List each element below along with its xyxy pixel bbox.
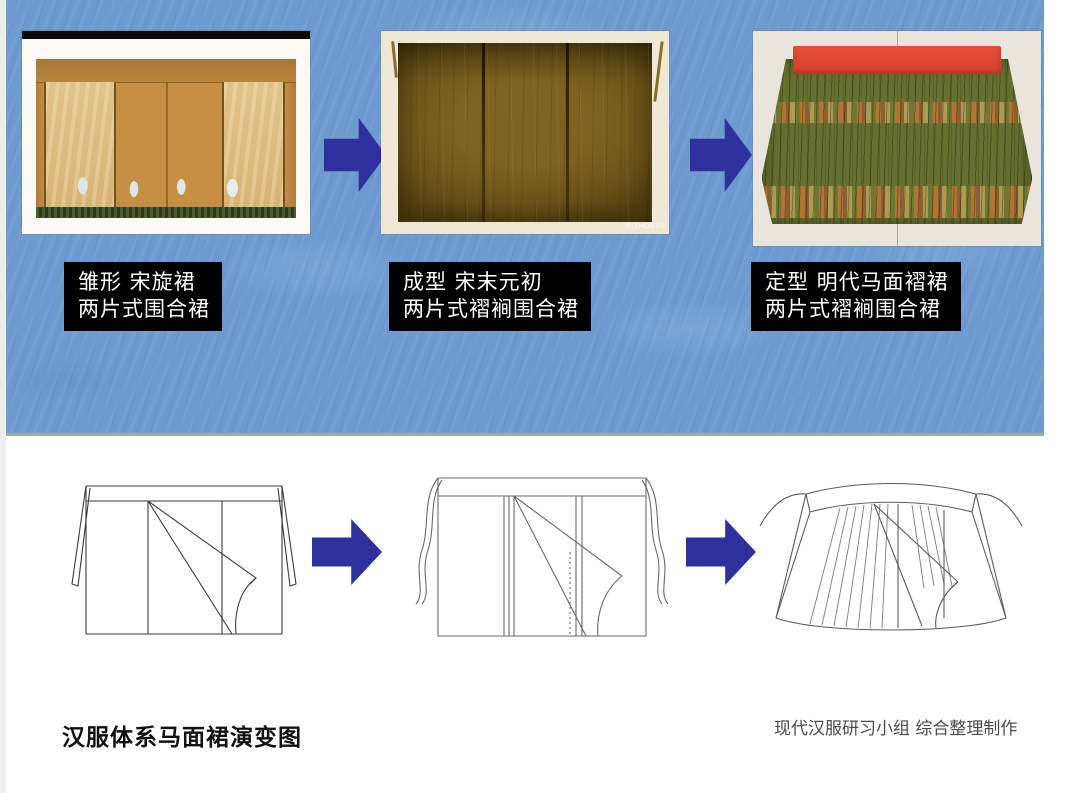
caption-stage-3-line-1: 定型 明代马面褶裙 bbox=[765, 269, 949, 296]
caption-stage-3: 定型 明代马面褶裙 两片式褶裥围合裙 bbox=[751, 262, 961, 331]
photo2-wrinkles bbox=[398, 43, 651, 222]
caption-stage-2: 成型 宋末元初 两片式褶裥围合裙 bbox=[389, 262, 591, 331]
photo2-mat bbox=[381, 31, 669, 234]
photo2-watermark: @汉HONYN bbox=[624, 221, 665, 231]
photo3-skirt-body bbox=[762, 59, 1033, 225]
photo1-cloth bbox=[36, 59, 295, 219]
photo1-waistband bbox=[36, 59, 295, 84]
photo2-seam-left bbox=[482, 43, 485, 222]
photo2-cloth bbox=[398, 43, 651, 222]
photo1-mat bbox=[22, 39, 310, 234]
caption-stage-1: 雏形 宋旋裙 两片式围合裙 bbox=[64, 262, 222, 331]
photo3-brocade-upper bbox=[762, 102, 1033, 124]
photo3-red-waistband bbox=[793, 46, 1000, 74]
photo2-tie-left bbox=[391, 41, 398, 78]
photo-song-yuan-pleated-skirt: @汉HONYN bbox=[381, 31, 669, 234]
photo2-seam-right bbox=[566, 43, 569, 222]
caption-stage-1-line-2: 两片式围合裙 bbox=[78, 296, 210, 323]
sketch-song-yuan-pleated-skirt bbox=[404, 464, 679, 650]
caption-stage-2-line-1: 成型 宋末元初 bbox=[403, 269, 579, 296]
credit-line: 现代汉服研习小组 综合整理制作 bbox=[774, 714, 1017, 739]
photo-ming-mamianqun bbox=[753, 31, 1041, 246]
evolution-chart-page: @汉HONYN 雏形 宋旋裙 两片式围合裙 成型 宋末元初 两片式褶裥围合裙 定… bbox=[0, 0, 1080, 793]
photo1-hem-band bbox=[36, 207, 295, 218]
caption-stage-2-line-2: 两片式褶裥围合裙 bbox=[403, 296, 579, 323]
sketch-song-xuanqun bbox=[64, 466, 314, 646]
caption-stage-1-line-1: 雏形 宋旋裙 bbox=[78, 269, 210, 296]
photo3-mat bbox=[753, 31, 1041, 246]
photo1-tassels bbox=[67, 177, 264, 199]
photo1-black-bar bbox=[22, 31, 310, 39]
sketch-ming-mamianqun bbox=[748, 468, 1033, 650]
caption-stage-3-line-2: 两片式褶裥围合裙 bbox=[765, 296, 949, 323]
photo-song-xuanqun bbox=[22, 31, 310, 234]
photo3-brocade-lower bbox=[762, 186, 1033, 217]
page-title: 汉服体系马面裙演变图 bbox=[62, 718, 302, 752]
photo2-tie-right bbox=[654, 41, 664, 102]
